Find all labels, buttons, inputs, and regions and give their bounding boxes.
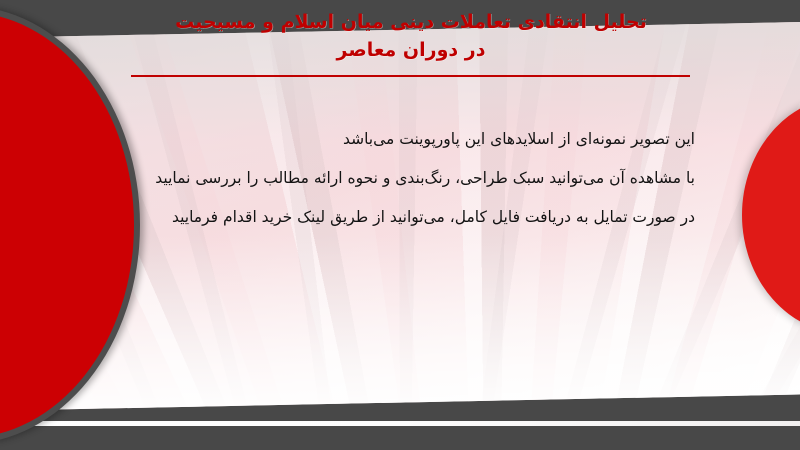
title-line-1: تحلیل انتقادی تعاملات دینی میان اسلام و … (130, 8, 692, 36)
slide-body-text: این تصویر نمونه‌ای از اسلایدهای این پاور… (150, 120, 695, 237)
body-line-3: در صورت تمایل به دریافت فایل کامل، می‌تو… (150, 198, 695, 237)
title-line-2: در دوران معاصر (130, 36, 692, 64)
body-line-1: این تصویر نمونه‌ای از اسلایدهای این پاور… (150, 120, 695, 159)
bottom-light-strip (0, 421, 800, 426)
body-line-2: با مشاهده آن می‌توانید سبک طراحی، رنگ‌بن… (150, 159, 695, 198)
title-divider-rule (131, 75, 690, 77)
presentation-slide: تحلیل انتقادی تعاملات دینی میان اسلام و … (0, 0, 800, 450)
slide-title: تحلیل انتقادی تعاملات دینی میان اسلام و … (130, 8, 692, 64)
